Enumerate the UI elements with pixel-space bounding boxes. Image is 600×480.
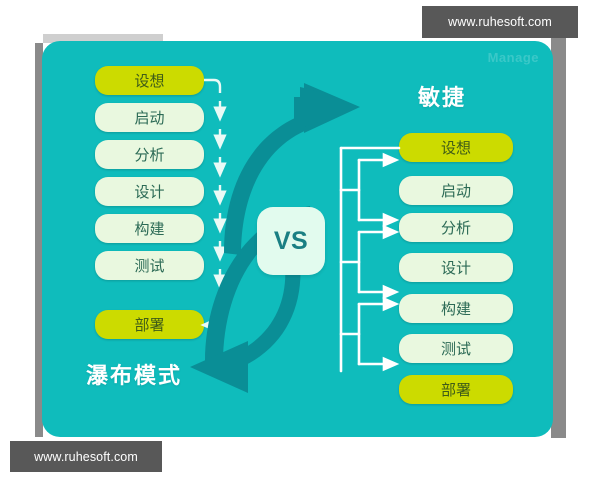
agile-step-2[interactable]: 分析 [399, 213, 513, 242]
waterfall-flow-arrows [204, 80, 220, 325]
waterfall-step-3[interactable]: 设计 [95, 177, 204, 206]
agile-step-2-label: 分析 [441, 217, 471, 238]
waterfall-step-4[interactable]: 构建 [95, 214, 204, 243]
agile-step-3-label: 设计 [441, 257, 471, 278]
agile-step-5-label: 测试 [441, 338, 471, 359]
waterfall-step-0-label: 设想 [134, 70, 164, 91]
agile-step-5[interactable]: 测试 [399, 334, 513, 363]
agile-step-0[interactable]: 设想 [399, 133, 513, 162]
waterfall-step-0[interactable]: 设想 [95, 66, 204, 95]
waterfall-step-6-label: 部署 [134, 314, 164, 335]
agile-step-0-label: 设想 [441, 137, 471, 158]
vs-badge: VS [257, 207, 325, 275]
agile-step-1[interactable]: 启动 [399, 176, 513, 205]
agile-step-3[interactable]: 设计 [399, 253, 513, 282]
waterfall-step-4-label: 构建 [134, 218, 164, 239]
agile-step-4[interactable]: 构建 [399, 294, 513, 323]
watermark-bottom: www.ruhesoft.com [10, 441, 162, 472]
waterfall-step-3-label: 设计 [134, 181, 164, 202]
agile-step-6[interactable]: 部署 [399, 375, 513, 404]
waterfall-step-6[interactable]: 部署 [95, 310, 204, 339]
decor-slab-right [551, 30, 566, 438]
diagram-card: Manage [42, 41, 553, 437]
waterfall-title: 瀑布模式 [86, 358, 182, 390]
waterfall-step-1[interactable]: 启动 [95, 103, 204, 132]
agile-title: 敏捷 [418, 80, 466, 112]
waterfall-step-5[interactable]: 测试 [95, 251, 204, 280]
agile-step-4-label: 构建 [441, 298, 471, 319]
agile-step-6-label: 部署 [441, 379, 471, 400]
waterfall-step-2-label: 分析 [134, 144, 164, 165]
waterfall-step-2[interactable]: 分析 [95, 140, 204, 169]
agile-step-1-label: 启动 [441, 180, 471, 201]
card-watermark-logo: Manage [488, 50, 539, 65]
waterfall-step-5-label: 测试 [134, 255, 164, 276]
agile-tree-connectors [341, 148, 399, 371]
watermark-top: www.ruhesoft.com [422, 6, 578, 38]
waterfall-step-1-label: 启动 [134, 107, 164, 128]
